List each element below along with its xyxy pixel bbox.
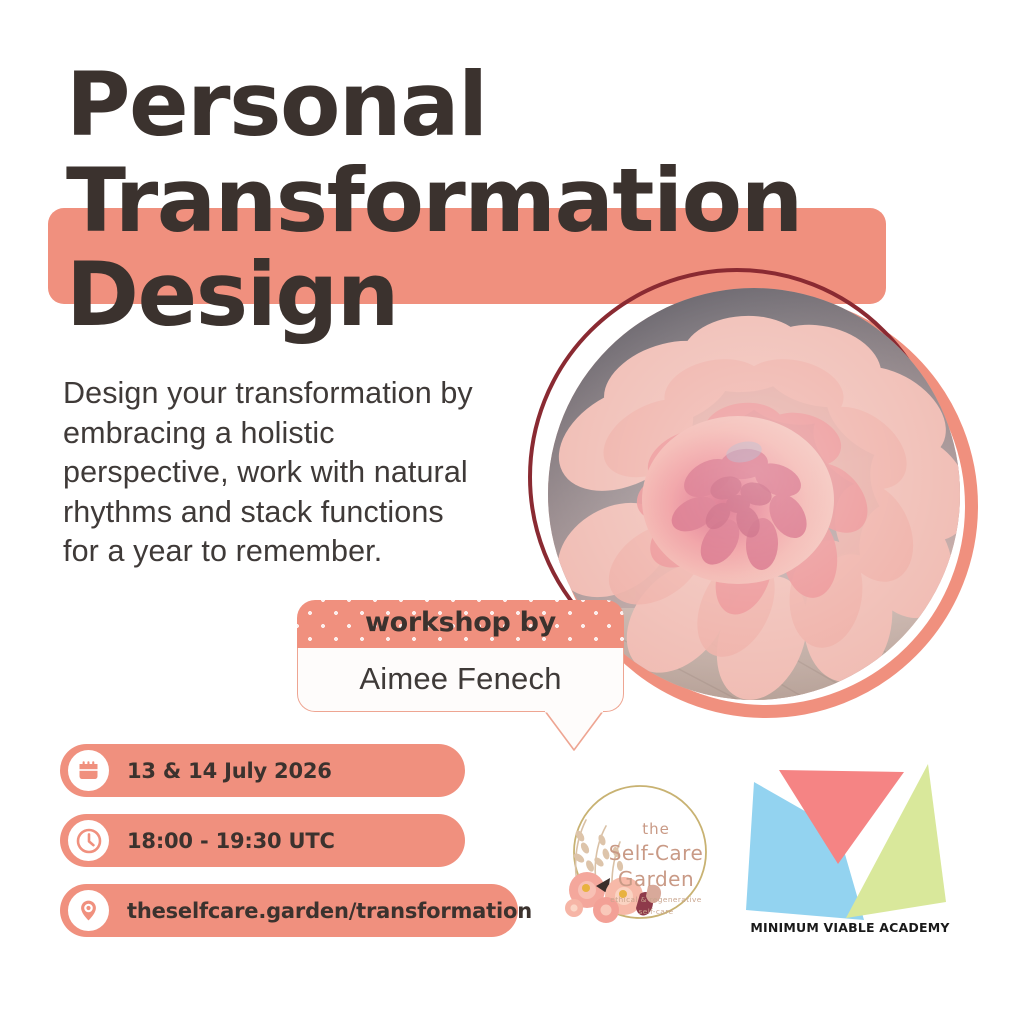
presenter-label: workshop by — [297, 607, 624, 638]
title-line-2: Transformation — [66, 154, 802, 248]
svg-text:Garden: Garden — [618, 867, 694, 891]
calendar-icon — [68, 750, 109, 791]
svg-text:self-care: self-care — [639, 907, 674, 916]
presenter-bubble-header: workshop by — [297, 600, 624, 648]
poster-canvas: Personal Transformation Design Design yo… — [0, 0, 1024, 1024]
self-care-garden-logo: the Self-Care Garden ethical & regenerat… — [552, 778, 720, 936]
presenter-name: Aimee Fenech — [298, 661, 623, 697]
minimum-viable-academy-logo — [742, 752, 958, 942]
location-pin-icon — [68, 890, 109, 931]
presenter-bubble-body: Aimee Fenech — [297, 648, 624, 712]
detail-text-time: 18:00 - 19:30 UTC — [127, 829, 335, 853]
svg-text:the: the — [642, 820, 670, 838]
description-text: Design your transformation by embracing … — [63, 374, 483, 572]
title-line-3: Design — [66, 248, 398, 342]
bubble-tail-icon — [544, 710, 604, 752]
clock-icon — [68, 820, 109, 861]
detail-pill-link[interactable]: theselfcare.garden/transformation — [60, 884, 518, 937]
minimum-viable-academy-caption: MINIMUM VIABLE ACADEMY — [742, 920, 958, 935]
detail-text-link: theselfcare.garden/transformation — [127, 899, 532, 923]
detail-text-date: 13 & 14 July 2026 — [127, 759, 332, 783]
title-line-1: Personal — [66, 58, 487, 152]
detail-pill-date[interactable]: 13 & 14 July 2026 — [60, 744, 465, 797]
detail-pill-time[interactable]: 18:00 - 19:30 UTC — [60, 814, 465, 867]
svg-text:Self-Care: Self-Care — [609, 841, 704, 865]
presenter-bubble: workshop by Aimee Fenech — [297, 600, 624, 712]
svg-text:ethical & regenerative: ethical & regenerative — [610, 895, 701, 904]
